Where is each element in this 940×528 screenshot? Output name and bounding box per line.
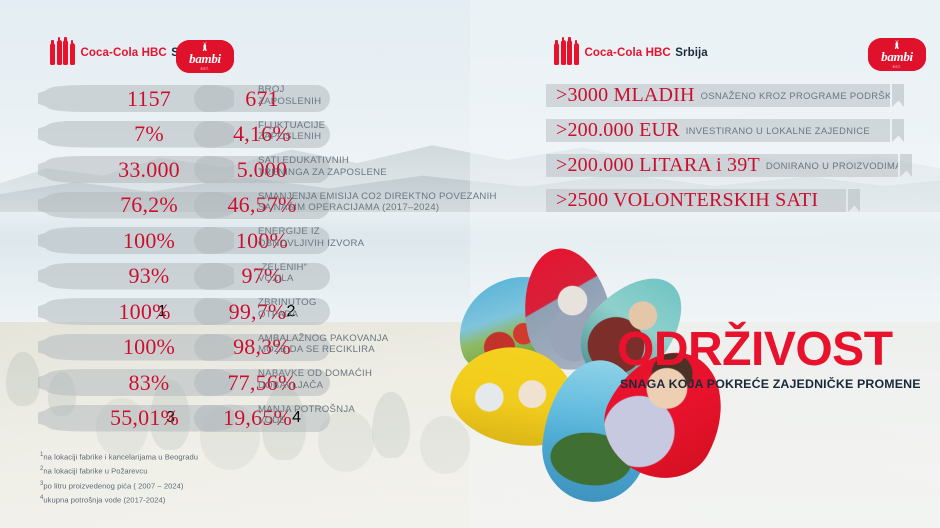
metric-value-coca-cola: 83% xyxy=(129,370,170,396)
coca-cola-bottles-icon xyxy=(50,40,75,65)
bambi-logo-word: bambi xyxy=(881,49,913,65)
metric-label: AMBALAŽNOG PAKOVANJAMOŽE DA SE RECIKLIRA xyxy=(258,333,463,356)
highlights-list: >3000 MLADIHOSNAŽENO KROZ PROGRAME PODRŠ… xyxy=(546,82,926,222)
highlight-description: OSNAŽENO KROZ PROGRAME PODRŠKE xyxy=(701,90,899,101)
metric-label: ENERGIJE IZOBNOVLJIVIH IZVORA xyxy=(258,226,463,249)
metric-label-line2: ZAPOSLENIH xyxy=(258,131,463,143)
metric-label-line1: FLUKTUACIJE xyxy=(258,120,463,132)
metric-label-line1: SMANJENJA EMISIJA CO2 DIREKTNO POVEZANIH xyxy=(258,191,463,203)
metric-label-line2: OBNOVLJIVIH IZVORA xyxy=(258,238,463,250)
ribbon-tail-icon xyxy=(892,84,904,107)
coca-cola-logo-line1: Coca-Cola HBC xyxy=(585,47,671,59)
ribbon-tail-icon xyxy=(848,189,860,212)
footnote-item: 2na lokaciji fabrike u Požarevcu xyxy=(40,464,360,478)
footnote-text: po litru proizvedenog pića ( 2007 – 2024… xyxy=(43,481,183,490)
metric-row: 100%98,3%AMBALAŽNOG PAKOVANJAMOŽE DA SE … xyxy=(38,331,458,367)
metric-row: 76,2%46,57%SMANJENJA EMISIJA CO2 DIREKTN… xyxy=(38,189,458,225)
highlight-row: >200.000 EURINVESTIRANO U LOKALNE ZAJEDN… xyxy=(546,117,926,152)
metric-label: SMANJENJA EMISIJA CO2 DIREKTNO POVEZANIH… xyxy=(258,191,463,214)
metric-row: 93%97%„ZELENIH“VOZILA xyxy=(38,260,458,296)
metric-label-line2: TRENINGA ZA ZAPOSLENE xyxy=(258,167,463,179)
metric-label-line2: DOBAVLJAČA xyxy=(258,380,463,392)
metric-label-line2: MOŽE DA SE RECIKLIRA xyxy=(258,344,463,356)
metric-label-line1: ZBRINUTOG xyxy=(258,297,463,309)
metric-label: ZBRINUTOGOTPADA xyxy=(258,297,463,320)
footnote-text: ukupna potrošnja vode (2017-2024) xyxy=(43,496,165,505)
highlight-ribbon: >2500 VOLONTERSKIH SATI xyxy=(546,189,846,212)
deer-icon xyxy=(893,40,902,51)
highlight-ribbon: >200.000 LITARA i 39TDONIRANO U PROIZVOD… xyxy=(546,154,898,177)
metric-label-line2: VODE xyxy=(258,415,463,427)
metric-label: MANJA POTROŠNJAVODE xyxy=(258,404,463,427)
metric-value-coca-cola: 76,2% xyxy=(120,192,178,218)
metric-value-coca-cola: 7% xyxy=(134,121,164,147)
metric-row: 33.0005.000SATI EDUKATIVNIHTRENINGA ZA Z… xyxy=(38,153,458,189)
highlight-ribbon: >3000 MLADIHOSNAŽENO KROZ PROGRAME PODRŠ… xyxy=(546,84,890,107)
metric-row: 83%77,56%NABAVKE OD DOMAĆIHDOBAVLJAČA xyxy=(38,366,458,402)
ribbon-tail-icon xyxy=(900,154,912,177)
highlight-row: >200.000 LITARA i 39TDONIRANO U PROIZVOD… xyxy=(546,152,926,187)
highlight-ribbon: >200.000 EURINVESTIRANO U LOKALNE ZAJEDN… xyxy=(546,119,890,142)
metric-label-line1: NABAVKE OD DOMAĆIH xyxy=(258,368,463,380)
metric-value-coca-cola: 55,01% xyxy=(110,405,179,431)
highlight-value: >200.000 LITARA i 39T xyxy=(556,154,760,177)
metric-label-line2: SA NAŠIM OPERACIJAMA (2017–2024) xyxy=(258,202,463,214)
metric-label: NABAVKE OD DOMAĆIHDOBAVLJAČA xyxy=(258,368,463,391)
metric-label-line1: MANJA POTROŠNJA xyxy=(258,404,463,416)
metric-row: 100%100%ENERGIJE IZOBNOVLJIVIH IZVORA xyxy=(38,224,458,260)
ribbon-tail-icon xyxy=(892,119,904,142)
footnote-item: 1na lokaciji fabrike i kancelarijama u B… xyxy=(40,450,360,464)
page-subtitle: SNAGA KOJA POKREĆE ZAJEDNIČKE PROMENE xyxy=(620,377,921,391)
metric-label: FLUKTUACIJEZAPOSLENIH xyxy=(258,120,463,143)
metric-value-coca-cola: 100% xyxy=(123,228,175,254)
metric-label-line1: BROJ xyxy=(258,84,463,96)
metric-label-line1: „ZELENIH“ xyxy=(258,262,463,274)
metric-row: 55,01%319,65%4MANJA POTROŠNJAVODE xyxy=(38,402,458,438)
metric-label-line1: SATI EDUKATIVNIH xyxy=(258,155,463,167)
metric-value-coca-cola: 93% xyxy=(129,263,170,289)
deer-icon xyxy=(201,42,210,53)
bambi-logo-left: bambi EST. xyxy=(176,40,234,73)
bambi-logo-word: bambi xyxy=(189,51,221,67)
metric-label-line1: ENERGIJE IZ xyxy=(258,226,463,238)
highlight-value: >200.000 EUR xyxy=(556,119,680,142)
metric-value-coca-cola: 33.000 xyxy=(118,157,180,183)
coca-cola-hbc-logo-right: Coca-Cola HBC Srbija xyxy=(554,40,708,65)
highlight-row: >3000 MLADIHOSNAŽENO KROZ PROGRAME PODRŠ… xyxy=(546,82,926,117)
metric-label-line2: VOZILA xyxy=(258,273,463,285)
metric-row: 7%4,16%FLUKTUACIJEZAPOSLENIH xyxy=(38,118,458,154)
bambi-logo-right: bambi EST. xyxy=(868,38,926,71)
metric-label: SATI EDUKATIVNIHTRENINGA ZA ZAPOSLENE xyxy=(258,155,463,178)
footnote-item: 3po litru proizvedenog pića ( 2007 – 202… xyxy=(40,479,360,493)
footnote-text: na lokaciji fabrike u Požarevcu xyxy=(43,467,147,476)
coca-cola-logo-line1: Coca-Cola HBC xyxy=(81,47,167,59)
title-block: ODRŽIVOST SNAGA KOJA POKREĆE ZAJEDNIČKE … xyxy=(617,327,921,391)
footnotes: 1na lokaciji fabrike i kancelarijama u B… xyxy=(40,450,360,507)
highlight-description: INVESTIRANO U LOKALNE ZAJEDNICE xyxy=(686,125,870,136)
footnote-text: na lokaciji fabrike i kancelarijama u Be… xyxy=(43,453,198,462)
metric-label-line1: AMBALAŽNOG PAKOVANJA xyxy=(258,333,463,345)
metric-row: 100%199,7%2ZBRINUTOGOTPADA xyxy=(38,295,458,331)
metric-value-coca-cola: 100% xyxy=(118,299,170,325)
highlight-value: >3000 MLADIH xyxy=(556,84,695,107)
metric-label-line2: ZAPOSLENIH xyxy=(258,96,463,108)
page-title: ODRŽIVOST xyxy=(617,327,921,373)
metric-label-line2: OTPADA xyxy=(258,309,463,321)
coca-cola-bottles-icon xyxy=(554,40,579,65)
metric-value-coca-cola: 100% xyxy=(123,334,175,360)
metric-row: 1157671BROJZAPOSLENIH xyxy=(38,82,458,118)
metrics-list: 1157671BROJZAPOSLENIH7%4,16%FLUKTUACIJEZ… xyxy=(38,82,458,437)
bambi-logo-tagline: EST. xyxy=(201,67,210,71)
highlight-value: >2500 VOLONTERSKIH SATI xyxy=(556,189,818,212)
footnote-item: 4ukupna potrošnja vode (2017-2024) xyxy=(40,493,360,507)
highlight-description: DONIRANO U PROIZVODIMA xyxy=(766,160,902,171)
infographic-canvas: Coca-Cola HBC Srbija bambi EST. 1157671B… xyxy=(0,0,940,528)
metric-label: BROJZAPOSLENIH xyxy=(258,84,463,107)
metric-value-coca-cola: 1157 xyxy=(127,86,171,112)
metric-label: „ZELENIH“VOZILA xyxy=(258,262,463,285)
coca-cola-logo-line2: Srbija xyxy=(675,47,708,59)
bambi-logo-tagline: EST. xyxy=(893,65,902,69)
highlight-row: >2500 VOLONTERSKIH SATI xyxy=(546,187,926,222)
